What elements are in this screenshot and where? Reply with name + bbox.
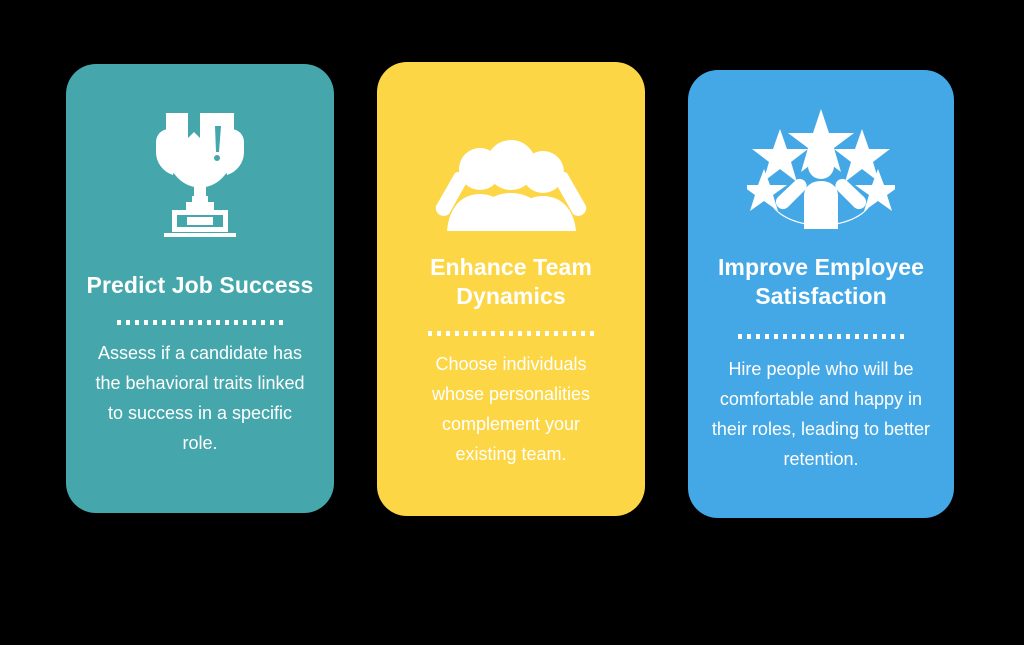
trophy-icon-wrap: [66, 105, 334, 245]
card-title: Enhance Team Dynamics: [377, 253, 645, 311]
dotted-divider: [738, 334, 905, 339]
card-body-text: Choose individuals whose personalities c…: [413, 349, 609, 469]
card-predict-job-success[interactable]: Predict Job Success Assess if a candidat…: [66, 64, 334, 513]
card-body-text: Hire people who will be comfortable and …: [705, 354, 937, 474]
card-title: Improve Employee Satisfaction: [688, 253, 954, 311]
people-group-icon-wrap: [377, 135, 645, 235]
trophy-icon: [142, 110, 258, 240]
dotted-divider: [117, 320, 284, 325]
card-title: Predict Job Success: [66, 271, 334, 300]
cards-board: Predict Job Success Assess if a candidat…: [0, 0, 1024, 645]
people-group-icon: [425, 139, 597, 231]
card-improve-employee-satisfaction[interactable]: Improve Employee Satisfaction Hire peopl…: [688, 70, 954, 518]
person-with-stars-icon-wrap: [688, 105, 954, 230]
card-enhance-team-dynamics[interactable]: Enhance Team Dynamics Choose individuals…: [377, 62, 645, 516]
person-with-stars-icon: [747, 107, 895, 229]
dotted-divider: [428, 331, 595, 336]
card-body-text: Assess if a candidate has the behavioral…: [92, 338, 308, 458]
